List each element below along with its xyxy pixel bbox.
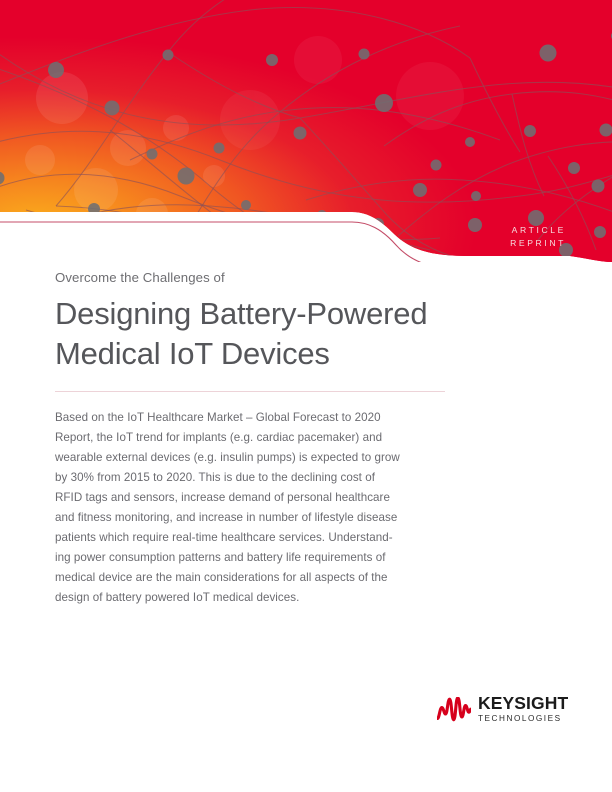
body-line: and fitness monitoring, and increase in … bbox=[55, 508, 445, 528]
header-network-graphic bbox=[0, 0, 612, 262]
body-line: medical device are the main consideratio… bbox=[55, 568, 445, 588]
keysight-wordmark: KEYSIGHT TECHNOLOGIES bbox=[478, 694, 568, 724]
keysight-waveform-icon bbox=[437, 697, 471, 722]
body-line: RFID tags and sensors, increase demand o… bbox=[55, 488, 445, 508]
body-line: by 30% from 2015 to 2020. This is due to… bbox=[55, 468, 445, 488]
page-title: Designing Battery-Powered Medical IoT De… bbox=[55, 294, 447, 374]
title-divider bbox=[55, 391, 445, 392]
keysight-logo: KEYSIGHT TECHNOLOGIES bbox=[437, 694, 568, 724]
body-line: design of battery powered IoT medical de… bbox=[55, 588, 445, 608]
page-title-line-1: Designing Battery-Powered bbox=[55, 294, 447, 334]
body-line: ing power consumption patterns and batte… bbox=[55, 548, 445, 568]
body-paragraph: Based on the IoT Healthcare Market – Glo… bbox=[55, 408, 445, 608]
article-reprint-label: ARTICLE REPRINT bbox=[510, 224, 566, 250]
header-banner bbox=[0, 0, 612, 262]
keysight-logo-tagline: TECHNOLOGIES bbox=[478, 713, 568, 724]
body-line: Report, the IoT trend for implants (e.g.… bbox=[55, 428, 445, 448]
page-title-line-2: Medical IoT Devices bbox=[55, 334, 447, 374]
keysight-logo-name: KEYSIGHT bbox=[478, 694, 568, 712]
article-reprint-line-2: REPRINT bbox=[510, 237, 566, 250]
body-line: wearable external devices (e.g. insulin … bbox=[55, 448, 445, 468]
body-line: Based on the IoT Healthcare Market – Glo… bbox=[55, 408, 445, 428]
article-reprint-line-1: ARTICLE bbox=[510, 224, 566, 237]
body-line: patients which require real-time healthc… bbox=[55, 528, 445, 548]
kicker-text: Overcome the Challenges of bbox=[55, 270, 447, 286]
cover-content: Overcome the Challenges of Designing Bat… bbox=[55, 270, 447, 608]
